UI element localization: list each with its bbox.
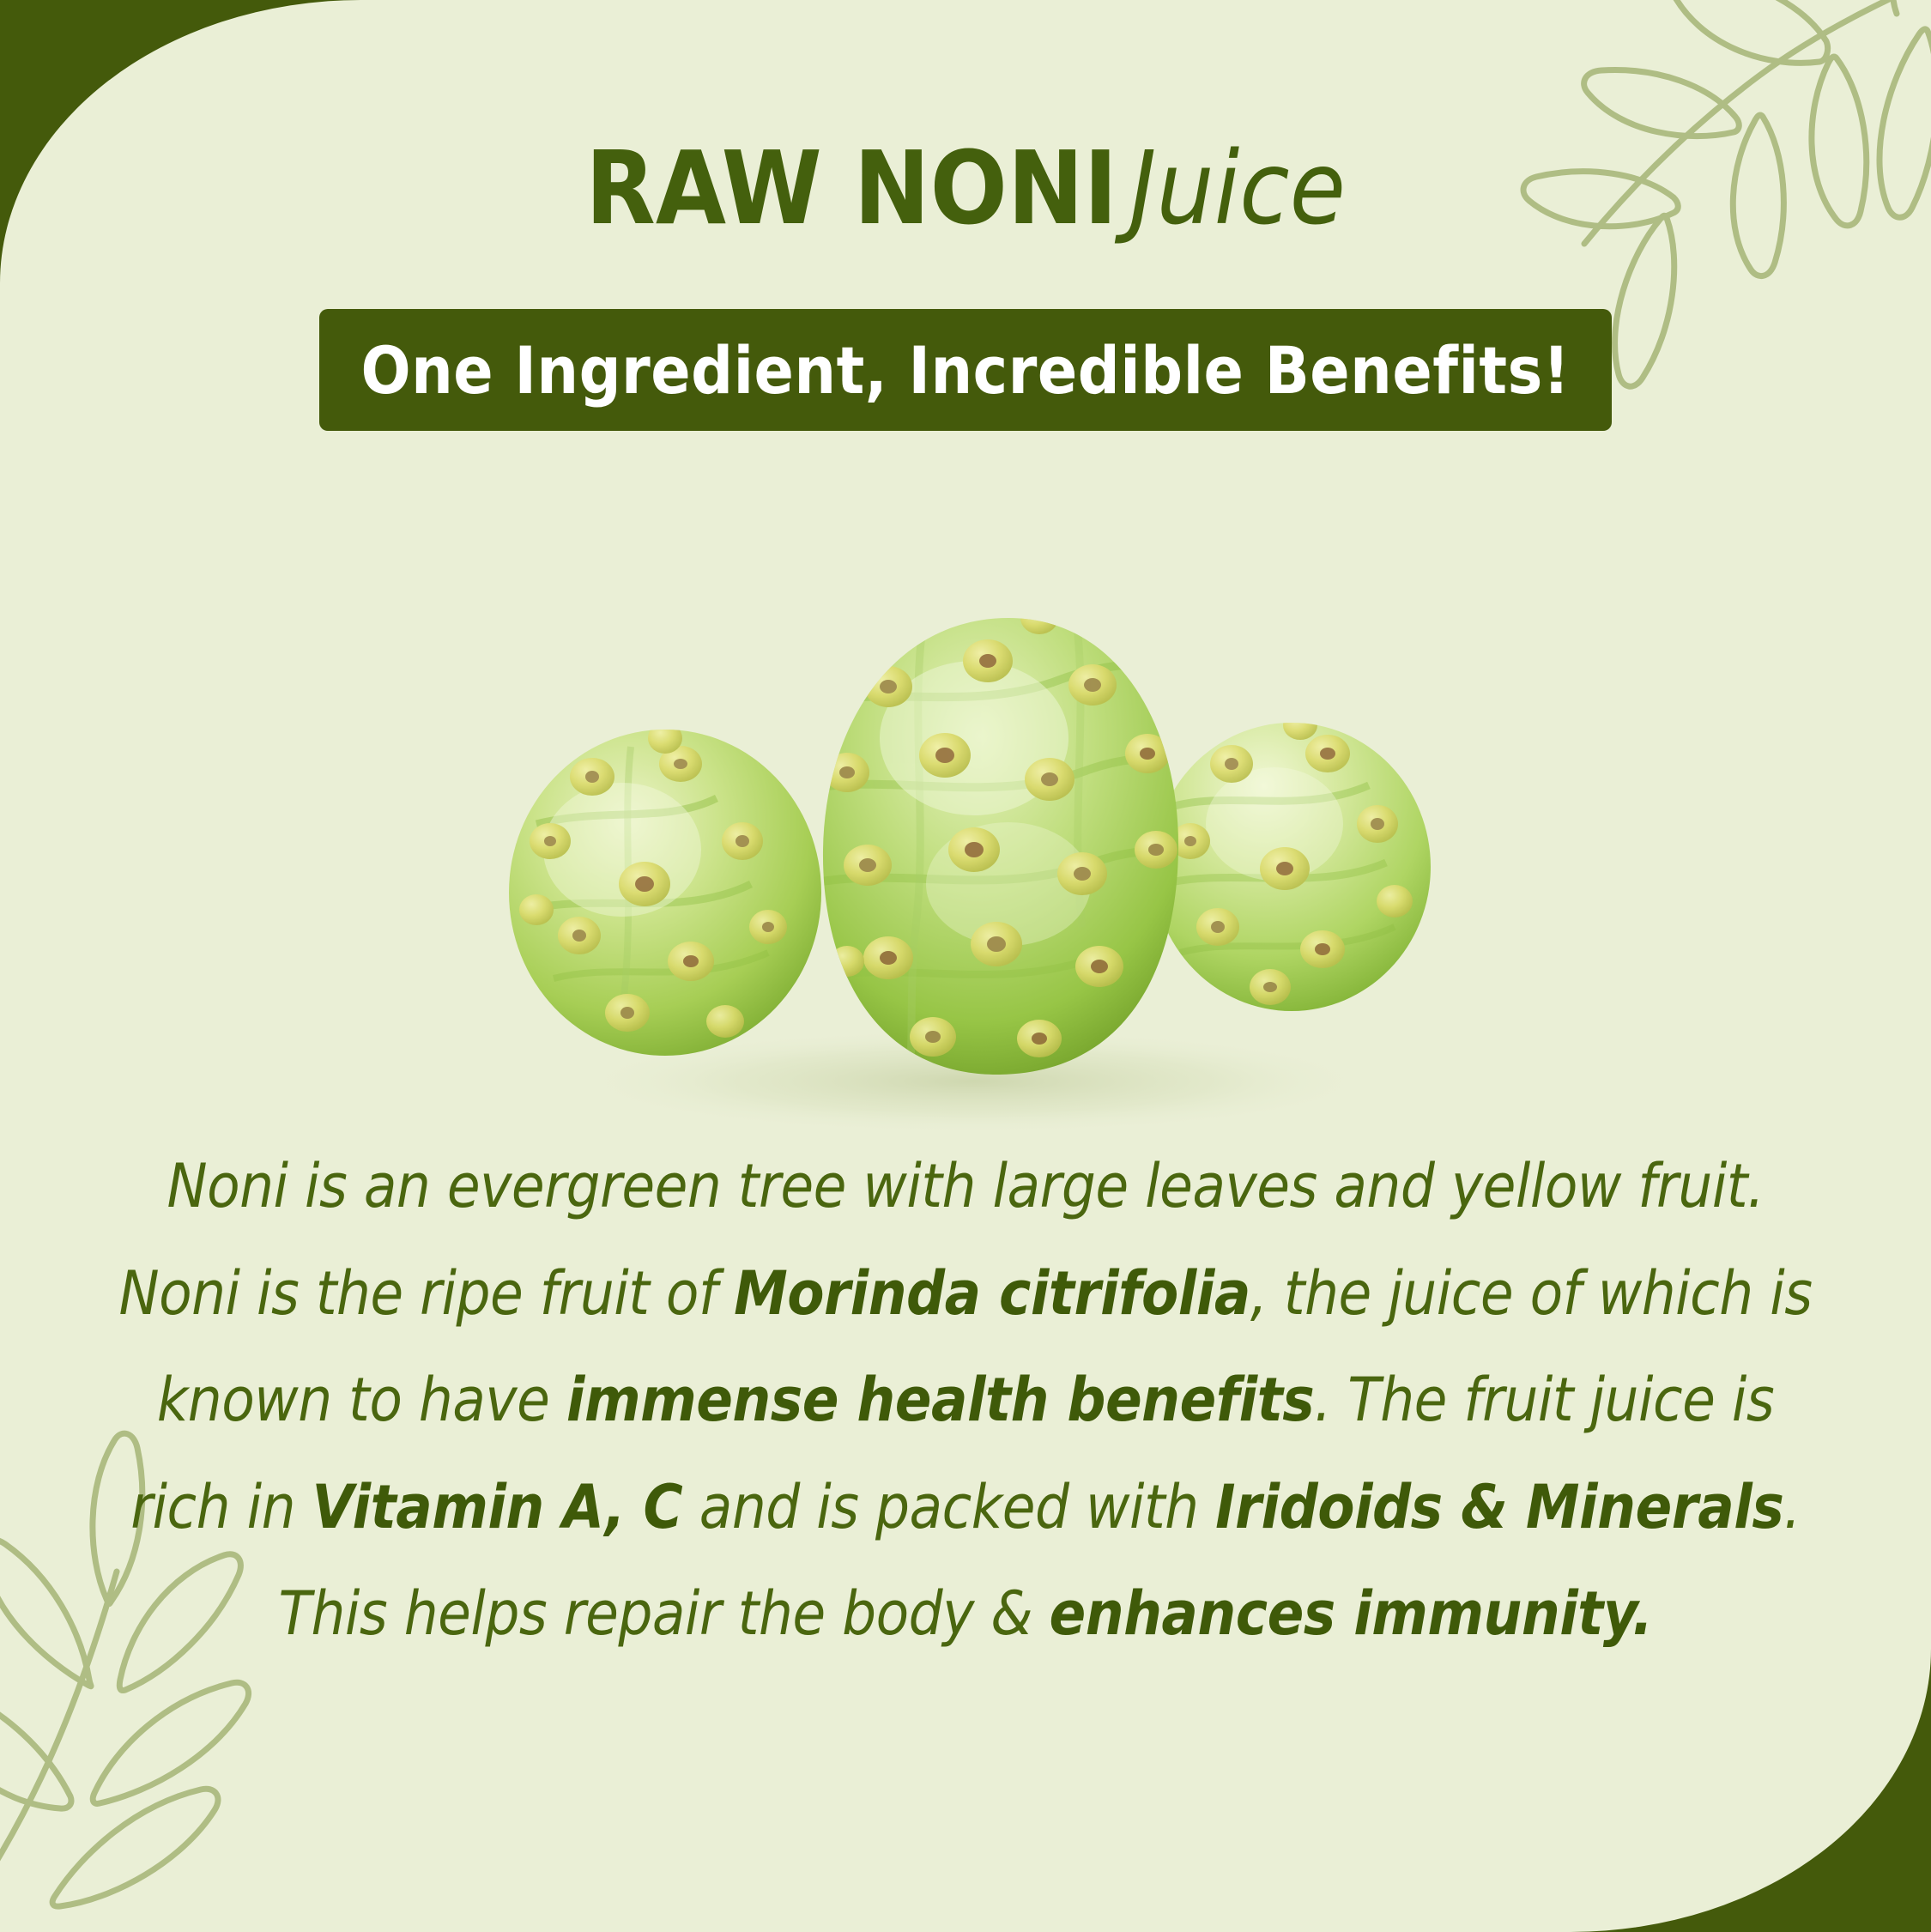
body-paragraph: Noni is an evergreen tree with large lea… <box>103 1133 1828 1668</box>
page-title-italic: Juice <box>1129 129 1346 247</box>
header: RAW NONIJuice <box>0 137 1931 239</box>
page-title: RAW NONIJuice <box>0 137 1931 239</box>
tagline-banner: One Ingredient, Incredible Benefits! <box>319 309 1612 431</box>
body-emphasis: Iridoids & Minerals <box>1215 1472 1783 1542</box>
noni-fruit-left <box>509 723 821 1056</box>
body-emphasis: enhances immunity. <box>1050 1578 1653 1649</box>
poster-root: RAW NONIJuice One Ingredient, Incredible… <box>0 0 1931 1932</box>
body-emphasis: immense health benefits <box>566 1365 1314 1435</box>
tagline-text: One Ingredient, Incredible Benefits! <box>361 332 1571 409</box>
noni-fruit-center <box>804 602 1218 1081</box>
body-emphasis: Morinda citrifolia <box>734 1258 1250 1329</box>
page-title-strong: RAW NONI <box>585 129 1117 247</box>
noni-fruit-right <box>1153 711 1431 1011</box>
noni-fruit-illustration <box>408 481 1523 1133</box>
hero-image <box>0 481 1931 1133</box>
body-emphasis: Vitamin A, C <box>312 1472 683 1542</box>
body-text: and is packed with <box>682 1472 1215 1542</box>
